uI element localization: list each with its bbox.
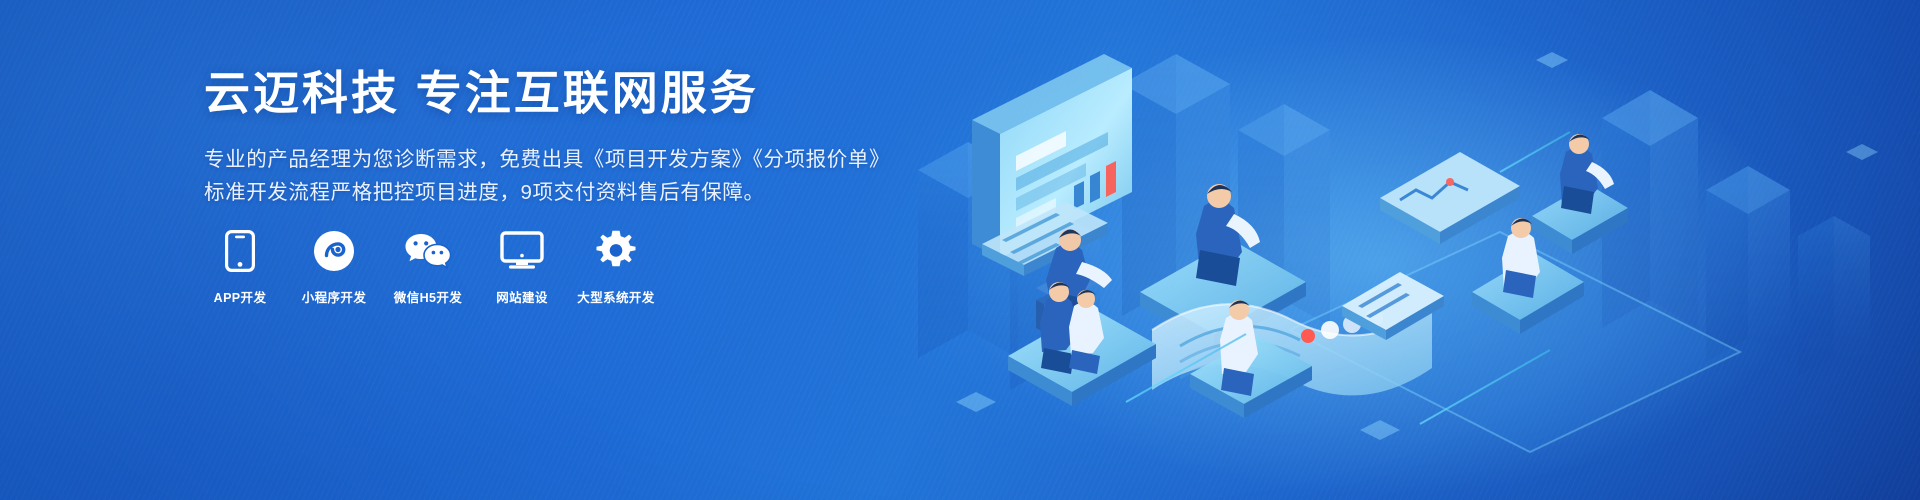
hero-subtitle: 专业的产品经理为您诊断需求，免费出具《项目开发方案》《分项报价单》 标准开发流程… bbox=[204, 143, 924, 209]
hero-copy: 云迈科技 专注互联网服务 专业的产品经理为您诊断需求，免费出具《项目开发方案》《… bbox=[204, 66, 924, 209]
mini-program-icon bbox=[313, 228, 355, 274]
subtitle-line-2: 标准开发流程严格把控项目进度，9项交付资料售后有保障。 bbox=[204, 176, 924, 209]
isometric-tech-illustration bbox=[860, 0, 1920, 500]
service-item-wechat-h5[interactable]: 微信H5开发 bbox=[392, 228, 464, 306]
service-item-mini-program[interactable]: 小程序开发 bbox=[298, 228, 370, 306]
service-item-large-system[interactable]: 大型系统开发 bbox=[580, 228, 652, 306]
service-icon-list: APP开发 小程序开发 bbox=[204, 228, 652, 306]
gear-icon bbox=[595, 228, 637, 274]
subtitle-line-1: 专业的产品经理为您诊断需求，免费出具《项目开发方案》《分项报价单》 bbox=[204, 143, 924, 176]
monitor-icon bbox=[500, 228, 544, 274]
service-item-website[interactable]: 网站建设 bbox=[486, 228, 558, 306]
service-item-app[interactable]: APP开发 bbox=[204, 228, 276, 306]
service-label: APP开发 bbox=[214, 287, 267, 306]
wechat-icon bbox=[404, 228, 452, 274]
page-title: 云迈科技 专注互联网服务 bbox=[204, 66, 924, 121]
service-label: 微信H5开发 bbox=[394, 287, 462, 306]
service-label: 大型系统开发 bbox=[577, 287, 654, 306]
mobile-phone-icon bbox=[225, 228, 255, 274]
service-label: 网站建设 bbox=[496, 287, 548, 306]
service-label: 小程序开发 bbox=[302, 287, 367, 306]
hero-banner: 云迈科技 专注互联网服务 专业的产品经理为您诊断需求，免费出具《项目开发方案》《… bbox=[0, 0, 1920, 500]
